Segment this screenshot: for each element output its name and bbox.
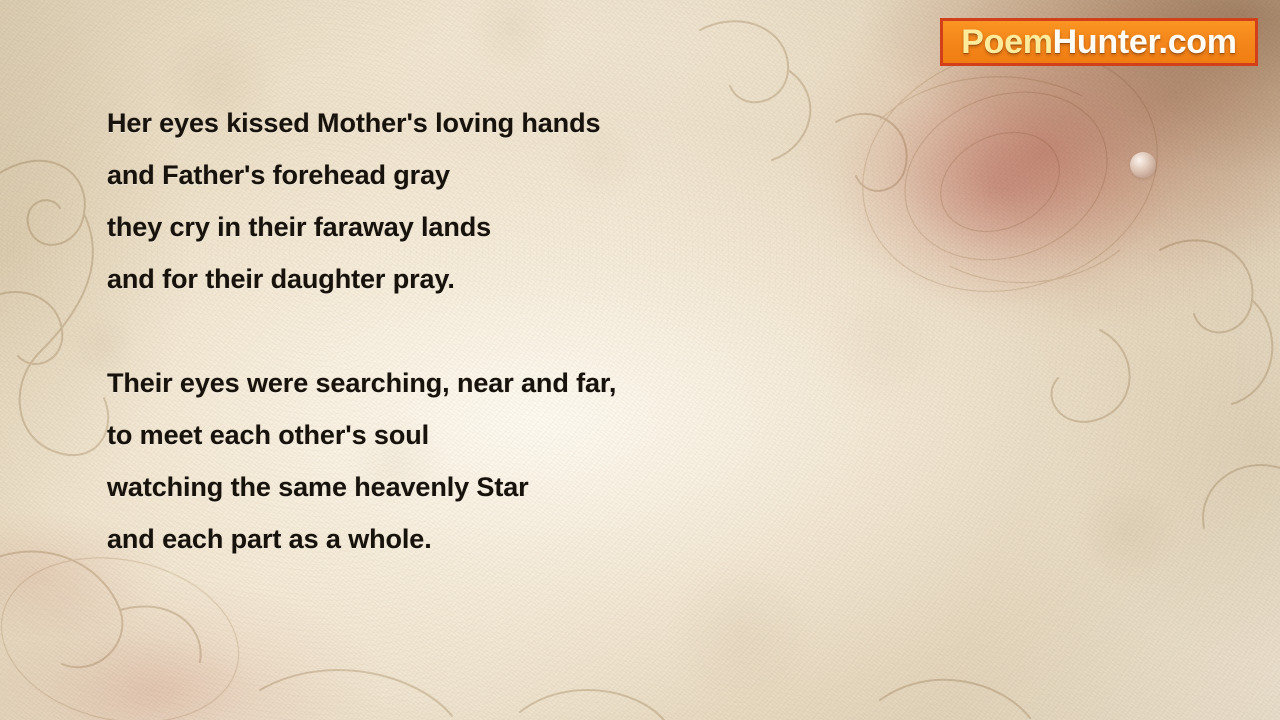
poem-line: watching the same heavenly Star (107, 461, 867, 513)
poem-stanza: Their eyes were searching, near and far,… (107, 357, 867, 565)
logo-text-poem: Poem (961, 23, 1052, 61)
pearl-dot-icon (1130, 152, 1156, 178)
poem-body: Her eyes kissed Mother's loving hands an… (107, 97, 867, 565)
poem-line: and for their daughter pray. (107, 253, 867, 305)
poem-line: Her eyes kissed Mother's loving hands (107, 97, 867, 149)
logo-wordmark: PoemHunter.com (961, 25, 1236, 59)
poem-line: and each part as a whole. (107, 513, 867, 565)
poem-stanza: Her eyes kissed Mother's loving hands an… (107, 97, 867, 305)
poem-line: and Father's forehead gray (107, 149, 867, 201)
poem-line: to meet each other's soul (107, 409, 867, 461)
poem-card: PoemHunter.com Her eyes kissed Mother's … (0, 0, 1280, 720)
poem-line: they cry in their faraway lands (107, 201, 867, 253)
logo-text-hunter: Hunter.com (1053, 23, 1237, 61)
poem-line: Their eyes were searching, near and far, (107, 357, 867, 409)
poemhunter-logo[interactable]: PoemHunter.com (940, 18, 1258, 66)
